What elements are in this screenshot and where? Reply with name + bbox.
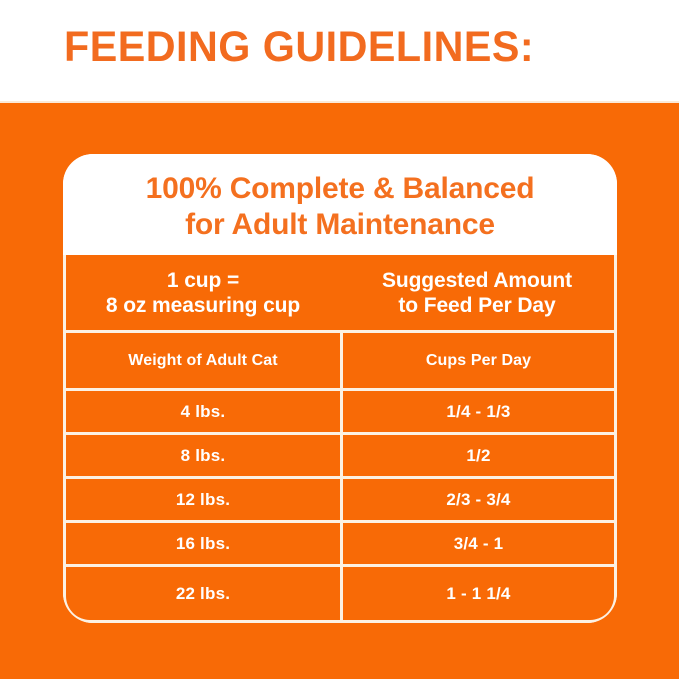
- cell-weight: 22 lbs.: [66, 567, 340, 620]
- table-row: 22 lbs. 1 - 1 1/4: [66, 564, 614, 620]
- cell-cups: 1 - 1 1/4: [340, 567, 614, 620]
- cell-weight: 12 lbs.: [66, 479, 340, 520]
- column-header-weight: Weight of Adult Cat: [66, 333, 340, 388]
- card-heading-line-1: 100% Complete & Balanced: [146, 171, 535, 207]
- banner-amount-line-2: to Feed Per Day: [398, 293, 555, 318]
- feeding-guidelines-page: FEEDING GUIDELINES: 100% Complete & Bala…: [0, 0, 679, 679]
- cell-cups: 3/4 - 1: [340, 523, 614, 564]
- cell-cups: 1/4 - 1/3: [340, 391, 614, 432]
- table-column-header-row: Weight of Adult Cat Cups Per Day: [66, 330, 614, 388]
- banner-amount-line-1: Suggested Amount: [382, 268, 572, 293]
- feeding-guidelines-card: 100% Complete & Balanced for Adult Maint…: [63, 154, 617, 623]
- table-row: 16 lbs. 3/4 - 1: [66, 520, 614, 564]
- feeding-table: 1 cup = 8 oz measuring cup Suggested Amo…: [63, 255, 617, 623]
- table-banner-row: 1 cup = 8 oz measuring cup Suggested Amo…: [66, 255, 614, 330]
- page-title: FEEDING GUIDELINES:: [64, 22, 534, 72]
- card-heading: 100% Complete & Balanced for Adult Maint…: [63, 154, 617, 255]
- banner-cup-line-2: 8 oz measuring cup: [106, 293, 300, 318]
- table-row: 12 lbs. 2/3 - 3/4: [66, 476, 614, 520]
- header-band: FEEDING GUIDELINES:: [0, 0, 679, 103]
- cell-weight: 8 lbs.: [66, 435, 340, 476]
- table-row: 4 lbs. 1/4 - 1/3: [66, 388, 614, 432]
- card-heading-line-2: for Adult Maintenance: [185, 207, 495, 243]
- column-header-cups: Cups Per Day: [340, 333, 614, 388]
- cell-weight: 4 lbs.: [66, 391, 340, 432]
- cell-cups: 1/2: [340, 435, 614, 476]
- banner-cell-suggested-amount: Suggested Amount to Feed Per Day: [340, 255, 614, 330]
- table-row: 8 lbs. 1/2: [66, 432, 614, 476]
- banner-cup-line-1: 1 cup =: [167, 268, 239, 293]
- cell-cups: 2/3 - 3/4: [340, 479, 614, 520]
- cell-weight: 16 lbs.: [66, 523, 340, 564]
- banner-cell-cup-definition: 1 cup = 8 oz measuring cup: [66, 255, 340, 330]
